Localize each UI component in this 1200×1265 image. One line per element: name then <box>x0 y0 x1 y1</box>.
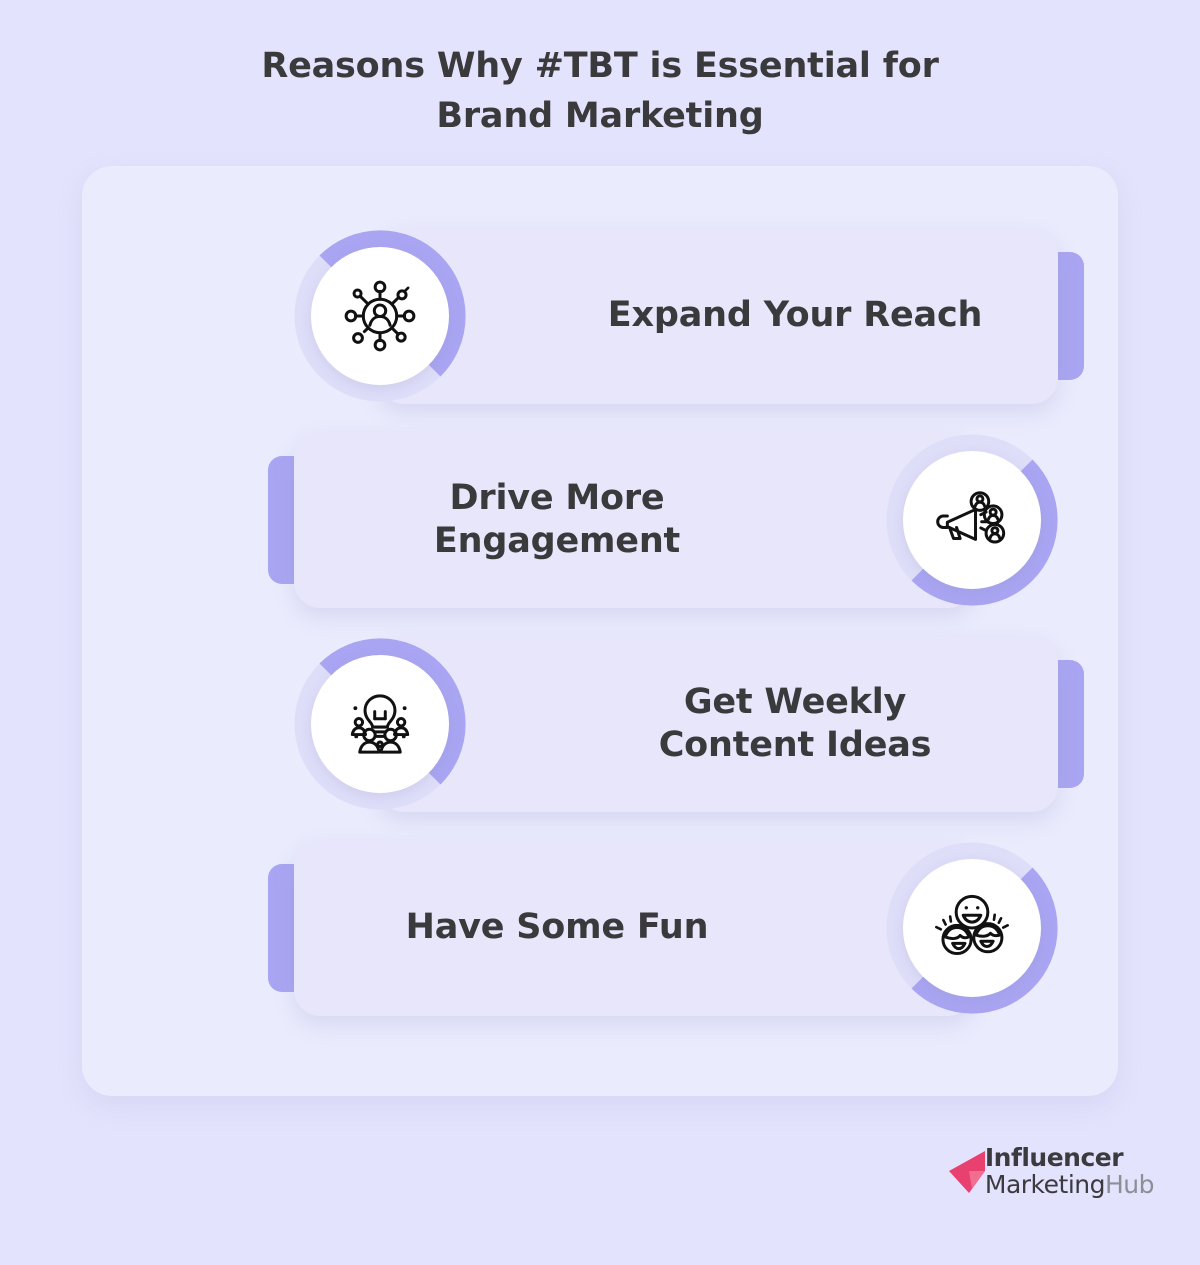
reason-label-3: Get Weekly Content Ideas <box>568 681 1022 768</box>
reason-row-3[interactable]: Get Weekly Content Ideas <box>378 636 1058 812</box>
reason-row-1[interactable]: Expand Your Reach <box>378 228 1058 404</box>
reason-badge-1 <box>294 230 466 402</box>
reason-row-2[interactable]: Drive More Engagement <box>294 432 974 608</box>
reason-card-3[interactable]: Get Weekly Content Ideas <box>378 636 1058 812</box>
reason-label-1: Expand Your Reach <box>568 294 1022 337</box>
reason-label-3-line-2: Content Ideas <box>659 725 932 765</box>
reason-label-2-line-1: Drive More <box>450 478 665 518</box>
reason-label-2: Drive More Engagement <box>330 477 784 564</box>
brand-logo[interactable]: Influencer MarketingHub <box>947 1145 1154 1197</box>
triangle-play-mark-icon <box>947 1145 989 1197</box>
page-title-line-1: Reasons Why #TBT is Essential for <box>0 42 1200 92</box>
reason-badge-2 <box>886 434 1058 606</box>
brand-logo-hub: Hub <box>1105 1170 1154 1199</box>
reason-card-2[interactable]: Drive More Engagement <box>294 432 974 608</box>
reason-card-4[interactable]: Have Some Fun <box>294 840 974 1016</box>
megaphone-audience-icon <box>903 451 1041 589</box>
reason-card-1[interactable]: Expand Your Reach <box>378 228 1058 404</box>
brand-logo-text: Influencer MarketingHub <box>985 1145 1154 1197</box>
reason-label-3-line-1: Get Weekly <box>684 682 906 722</box>
brand-logo-line-2: MarketingHub <box>985 1172 1154 1197</box>
network-reach-icon <box>311 247 449 385</box>
brand-logo-marketing: Marketing <box>985 1170 1105 1199</box>
lightbulb-team-idea-icon <box>311 655 449 793</box>
brand-logo-line-1: Influencer <box>985 1145 1154 1170</box>
reason-badge-4 <box>886 842 1058 1014</box>
smiling-faces-icon <box>903 859 1041 997</box>
reason-row-4[interactable]: Have Some Fun <box>294 840 974 1016</box>
reason-label-4: Have Some Fun <box>330 906 784 949</box>
reason-badge-3 <box>294 638 466 810</box>
reason-label-2-line-2: Engagement <box>434 521 680 561</box>
page-title: Reasons Why #TBT is Essential for Brand … <box>0 0 1200 141</box>
content-panel: Expand Your Reach <box>82 166 1118 1096</box>
page-title-line-2: Brand Marketing <box>0 92 1200 142</box>
